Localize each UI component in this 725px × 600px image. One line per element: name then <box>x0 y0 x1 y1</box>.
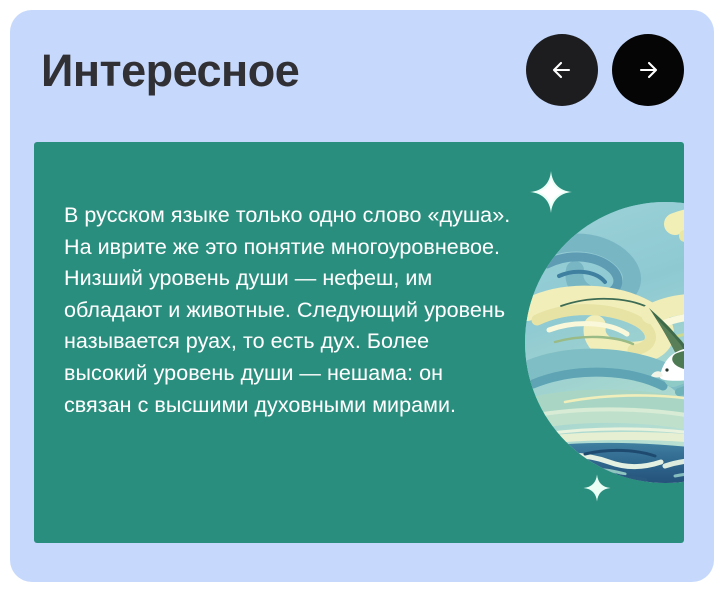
header: Интересное <box>10 10 714 130</box>
fact-card-body: В русском языке только одно слово «душа»… <box>64 200 514 421</box>
page-title: Интересное <box>41 48 299 93</box>
arrow-left-icon <box>544 52 580 88</box>
fact-card[interactable]: В русском языке только одно слово «душа»… <box>34 142 684 543</box>
fact-card-inner: В русском языке только одно слово «душа»… <box>34 142 684 543</box>
prev-button[interactable] <box>526 34 598 106</box>
carousel-nav <box>526 34 684 106</box>
sparkle-icon <box>583 474 611 502</box>
sparkle-icon <box>529 170 573 214</box>
sparkle-top <box>529 170 573 214</box>
next-button[interactable] <box>612 34 684 106</box>
sparkle-bottom <box>583 474 611 502</box>
arrow-right-icon <box>630 52 666 88</box>
content-panel: Интересное В русском языке тол <box>10 10 714 582</box>
seagull-over-sea-painting <box>525 202 684 483</box>
